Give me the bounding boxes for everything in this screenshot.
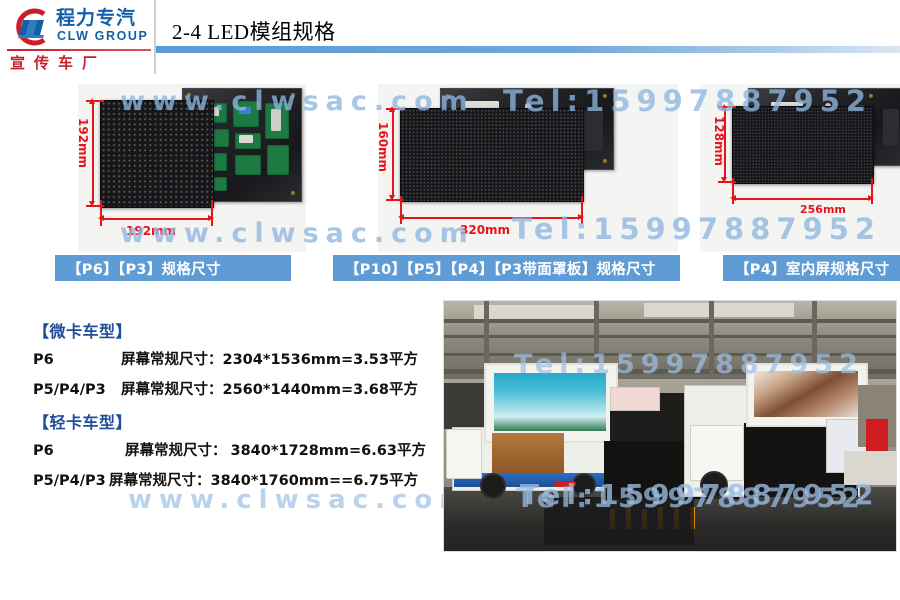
- caption-bar-p10-p5-p4-p3: 【P10】【P5】【P4】【P3带面罩板】规格尺寸: [333, 255, 680, 281]
- watermark-tel: Tel:15997887952: [514, 349, 864, 380]
- module2-height-label: 160mm: [376, 122, 390, 172]
- spec-value: 2560*1440mm=3.68平方: [223, 378, 418, 399]
- spec-row: P5/P4/P3 屏幕常规尺寸： 2560*1440mm=3.68平方: [33, 378, 443, 399]
- module2-led-panel: [400, 108, 584, 202]
- spec-label: 屏幕常规尺寸：: [109, 469, 211, 490]
- module-figure-p10-p5-p4-p3: 160mm 320mm: [378, 84, 678, 252]
- module1-height-label: 192mm: [76, 118, 90, 168]
- title-underline-bar: [156, 46, 900, 53]
- spec-value: 3840*1728mm=6.63平方: [231, 439, 426, 460]
- factory-photo: Tel:15997887952 Tel:15997887952: [443, 300, 897, 552]
- spec-group-heading-light: 【轻卡车型】: [33, 409, 443, 433]
- photo-led-screen-left-image: [494, 373, 606, 431]
- spec-label: 屏幕常规尺寸：: [125, 439, 227, 460]
- spec-row: P5/P4/P3 屏幕常规尺寸： 3840*1760mm==6.75平方: [33, 469, 443, 490]
- logo-top-row: 程力专汽 CLW GROUP: [4, 4, 154, 48]
- module-figure-p6-p3: 192mm 192mm: [78, 84, 306, 252]
- clw-circle-logo-icon: [10, 8, 54, 46]
- caption-bar-p4-indoor: 【P4】室内屏规格尺寸: [723, 255, 900, 281]
- spec-model: P6: [33, 352, 121, 368]
- module3-led-panel: [732, 106, 874, 184]
- spec-text-block: 【微卡车型】 P6 屏幕常规尺寸： 2304*1536mm=3.53平方 P5/…: [33, 318, 443, 499]
- watermark-tel: Tel:15997887952: [516, 483, 866, 514]
- logo-brand-cn: 程力专汽: [56, 8, 136, 28]
- spec-row: P6 屏幕常规尺寸： 2304*1536mm=3.53平方: [33, 348, 443, 369]
- company-logo: 程力专汽 CLW GROUP 宣传车厂: [4, 2, 154, 74]
- caption-bar-p6-p3: 【P6】【P3】规格尺寸: [55, 255, 291, 281]
- spec-value: 2304*1536mm=3.53平方: [223, 348, 418, 369]
- module3-height-label: 128mm: [712, 116, 726, 166]
- module2-width-label: 320mm: [460, 223, 510, 237]
- spec-model: P5/P4/P3: [33, 382, 121, 398]
- logo-divider-line: [7, 49, 151, 51]
- spec-row: P6 屏幕常规尺寸： 3840*1728mm=6.63平方: [33, 439, 443, 460]
- spec-label: 屏幕常规尺寸：: [121, 348, 223, 369]
- spec-model: P6: [33, 443, 121, 459]
- spec-value: 3840*1760mm==6.75平方: [211, 469, 419, 490]
- module1-led-panel: [100, 100, 214, 208]
- module1-width-label: 192mm: [126, 224, 176, 238]
- header-vertical-divider: [154, 0, 156, 74]
- spec-model: P5/P4/P3: [33, 473, 109, 489]
- slide-page: 程力专汽 CLW GROUP 宣传车厂 2-4 LED模组规格: [0, 0, 900, 600]
- logo-subtitle-cn: 宣传车厂: [10, 52, 152, 73]
- module-figure-p4-indoor: 128mm 256mm: [700, 84, 900, 252]
- module3-width-label: 256mm: [800, 203, 846, 216]
- spec-label: 屏幕常规尺寸：: [121, 378, 223, 399]
- spec-group-heading-micro: 【微卡车型】: [33, 318, 443, 342]
- logo-brand-en: CLW GROUP: [57, 29, 148, 43]
- page-title: 2-4 LED模组规格: [172, 16, 336, 46]
